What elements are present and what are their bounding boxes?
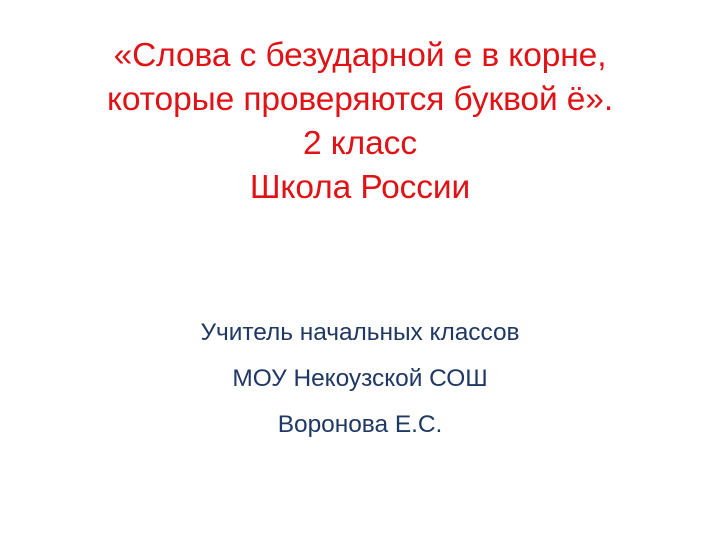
author-school: МОУ Некоузской СОШ bbox=[60, 356, 660, 402]
title-line-1: «Слова с безударной е в корне, bbox=[40, 34, 680, 78]
slide-author-block: Учитель начальных классов МОУ Некоузской… bbox=[60, 310, 660, 448]
title-line-2: которые проверяются буквой ё». bbox=[40, 78, 680, 122]
title-line-program: Школа России bbox=[40, 166, 680, 210]
presentation-slide: «Слова с безударной е в корне, которые п… bbox=[0, 0, 720, 540]
slide-title-block: «Слова с безударной е в корне, которые п… bbox=[40, 34, 680, 210]
title-line-grade: 2 класс bbox=[40, 122, 680, 166]
author-role: Учитель начальных классов bbox=[60, 310, 660, 356]
author-name: Воронова Е.С. bbox=[60, 402, 660, 448]
